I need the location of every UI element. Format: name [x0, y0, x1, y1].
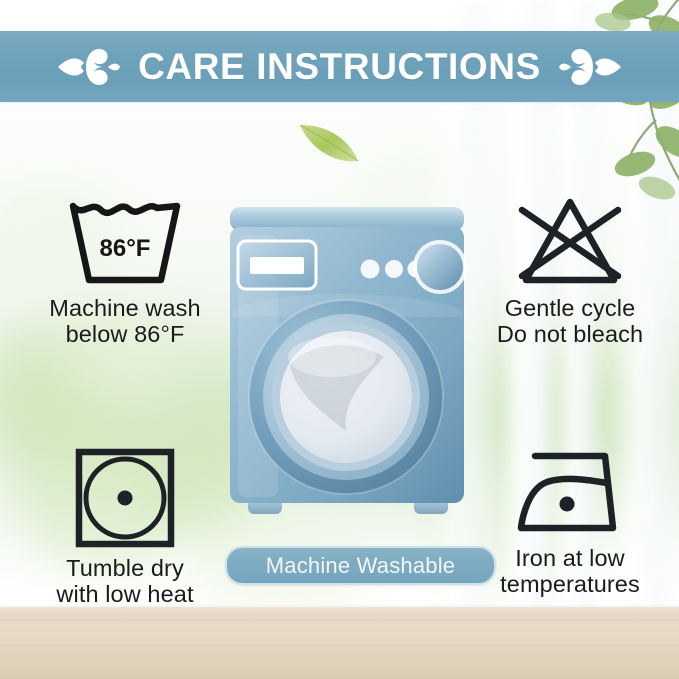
- care-caption-line1: Gentle cycle: [497, 295, 643, 321]
- care-caption-line1: Machine wash: [49, 295, 200, 321]
- door-glass-shine: [288, 337, 376, 377]
- care-caption-line2: temperatures: [500, 571, 640, 597]
- indicator-light: [385, 260, 403, 278]
- care-caption-line2: Do not bleach: [497, 321, 643, 347]
- fleur-de-lis-icon: [56, 44, 122, 90]
- control-knob: [417, 244, 463, 290]
- care-caption: Gentle cycle Do not bleach: [497, 295, 643, 348]
- care-caption: Iron at low temperatures: [500, 545, 640, 598]
- care-caption-line1: Tumble dry: [56, 555, 193, 581]
- care-symbol-iron: Iron at low temperatures: [470, 446, 670, 598]
- wash-temperature-value: 86°F: [100, 235, 151, 262]
- wash-tub-icon: 86°F: [65, 196, 185, 288]
- care-symbol-machine-wash: 86°F Machine wash below 86°F: [14, 196, 236, 348]
- machine-washable-badge: Machine Washable: [225, 546, 496, 585]
- floating-leaf-icon: [296, 118, 364, 168]
- washing-machine-illustration: [222, 205, 472, 535]
- care-caption: Tumble dry with low heat: [56, 555, 193, 608]
- indicator-light: [361, 260, 380, 279]
- care-symbol-tumble-dry: Tumble dry with low heat: [14, 446, 236, 608]
- care-caption-line2: with low heat: [56, 581, 193, 607]
- header-banner: CARE INSTRUCTIONS: [0, 31, 679, 102]
- iron-icon: [509, 446, 631, 538]
- crossed-triangle-icon: [510, 196, 630, 288]
- care-instructions-graphic: CARE INSTRUCTIONS 86°F Machine was: [0, 0, 679, 679]
- page-title: CARE INSTRUCTIONS: [138, 48, 541, 85]
- detergent-drawer-slot: [250, 257, 304, 274]
- care-symbol-no-bleach: Gentle cycle Do not bleach: [470, 196, 670, 348]
- badge-label: Machine Washable: [266, 553, 455, 579]
- tumble-dry-icon: [73, 446, 177, 548]
- care-caption: Machine wash below 86°F: [49, 295, 200, 348]
- care-caption-line1: Iron at low: [500, 545, 640, 571]
- fleur-de-lis-icon: [557, 44, 623, 90]
- wooden-table-surface: [0, 607, 679, 679]
- care-caption-line2: below 86°F: [49, 321, 200, 347]
